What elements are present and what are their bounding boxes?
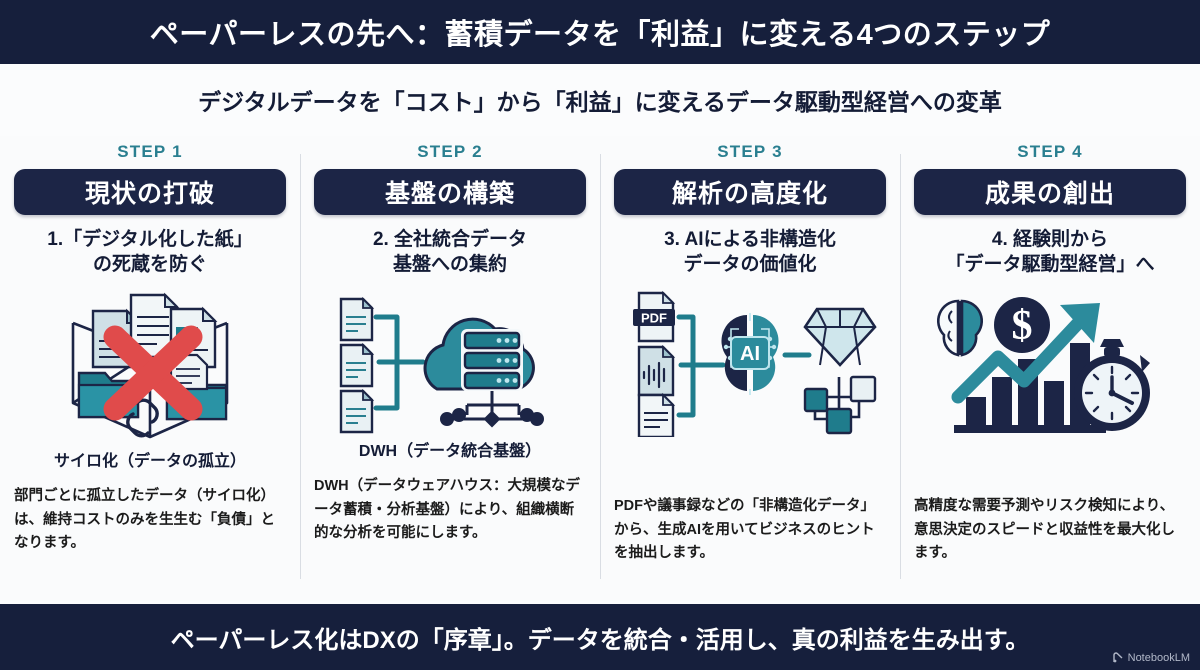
step-column-3: STEP 3 解析の高度化 3. AIによる非構造化 データの価値化 PDF (600, 136, 900, 601)
infographic-poster: ペーパーレスの先へ：蓄積データを「利益」に変える4つのステップ デジタルデータを… (0, 0, 1200, 670)
step-column-4: STEP 4 成果の創出 4. 経験則から 「データ駆動型経営」へ (900, 136, 1200, 601)
footer-message: ペーパーレス化はDXの「序章」。データを統合・活用し、真の利益を生み出す。 (171, 620, 1030, 655)
art-caption-2: DWH（データ統合基盤） (359, 437, 541, 461)
step-column-2: STEP 2 基盤の構築 2. 全社統合データ 基盤への集約 (300, 136, 600, 601)
ai-chip-label: AI (740, 343, 760, 365)
step-label-1: STEP 1 (117, 142, 182, 162)
art-caption-1: サイロ化（データの孤立） (54, 447, 246, 471)
step-badge-label-2: 基盤の構築 (385, 174, 515, 210)
step-badge-label-4: 成果の創出 (985, 174, 1115, 210)
step-label-3: STEP 3 (717, 142, 782, 162)
page-title: ペーパーレスの先へ：蓄積データを「利益」に変える4つのステップ (150, 11, 1050, 53)
step-badge-1: 現状の打破 (14, 169, 286, 215)
step-body-2: DWH（データウェアハウス：大規模なデータ蓄積・分析基盤）により、組織横断的な分… (314, 475, 586, 545)
step-badge-label-3: 解析の高度化 (672, 174, 828, 210)
header-bar: ペーパーレスの先へ：蓄積データを「利益」に変える4つのステップ (0, 0, 1200, 64)
footer-bar: ペーパーレス化はDXの「序章」。データを統合・活用し、真の利益を生み出す。 No… (0, 604, 1200, 670)
step-column-1: STEP 1 現状の打破 1.「デジタル化した紙」 の死蔵を防ぐ (0, 136, 300, 601)
subtitle-area: デジタルデータを「コスト」から「利益」に変えるデータ駆動型経営への変革 (0, 64, 1200, 136)
silo-box-with-red-x-illustration (19, 285, 281, 445)
step-badge-2: 基盤の構築 (314, 169, 586, 215)
step-badge-3: 解析の高度化 (614, 169, 886, 215)
step-heading-1: 1.「デジタル化した紙」 の死蔵を防ぐ (47, 227, 252, 277)
notebooklm-icon (1112, 652, 1124, 664)
pdf-badge-label: PDF (641, 311, 667, 326)
steps-container: STEP 1 現状の打破 1.「デジタル化した紙」 の死蔵を防ぐ (0, 136, 1200, 601)
step-body-1: 部門ごとに孤立したデータ（サイロ化）は、維持コストのみを生生む「負債」となります… (14, 485, 286, 555)
subtitle: デジタルデータを「コスト」から「利益」に変えるデータ駆動型経営への変革 (198, 83, 1002, 117)
step-heading-3: 3. AIによる非構造化 データの価値化 (664, 227, 836, 277)
ai-brain-unstructured-data-illustration: PDF (619, 285, 881, 437)
step-heading-4: 4. 経験則から 「データ駆動型経営」へ (945, 227, 1154, 277)
step-badge-4: 成果の創出 (914, 169, 1186, 215)
step-body-4: 高精度な需要予測やリスク検知により、意思決定のスピードと収益性を最大化します。 (914, 495, 1186, 565)
step-label-2: STEP 2 (417, 142, 482, 162)
step-label-4: STEP 4 (1017, 142, 1082, 162)
growth-chart-profit-illustration: $ (914, 285, 1186, 437)
watermark-label: NotebookLM (1128, 652, 1190, 664)
notebooklm-watermark: NotebookLM (1112, 652, 1190, 664)
step-body-3: PDFや議事録などの「非構造化データ」から、生成AIを用いてビジネスのヒントを抽… (614, 495, 886, 565)
cloud-data-warehouse-illustration (319, 285, 581, 437)
step-badge-label-1: 現状の打破 (85, 174, 215, 210)
step-heading-2: 2. 全社統合データ 基盤への集約 (373, 227, 527, 277)
dollar-symbol: $ (1012, 303, 1033, 349)
